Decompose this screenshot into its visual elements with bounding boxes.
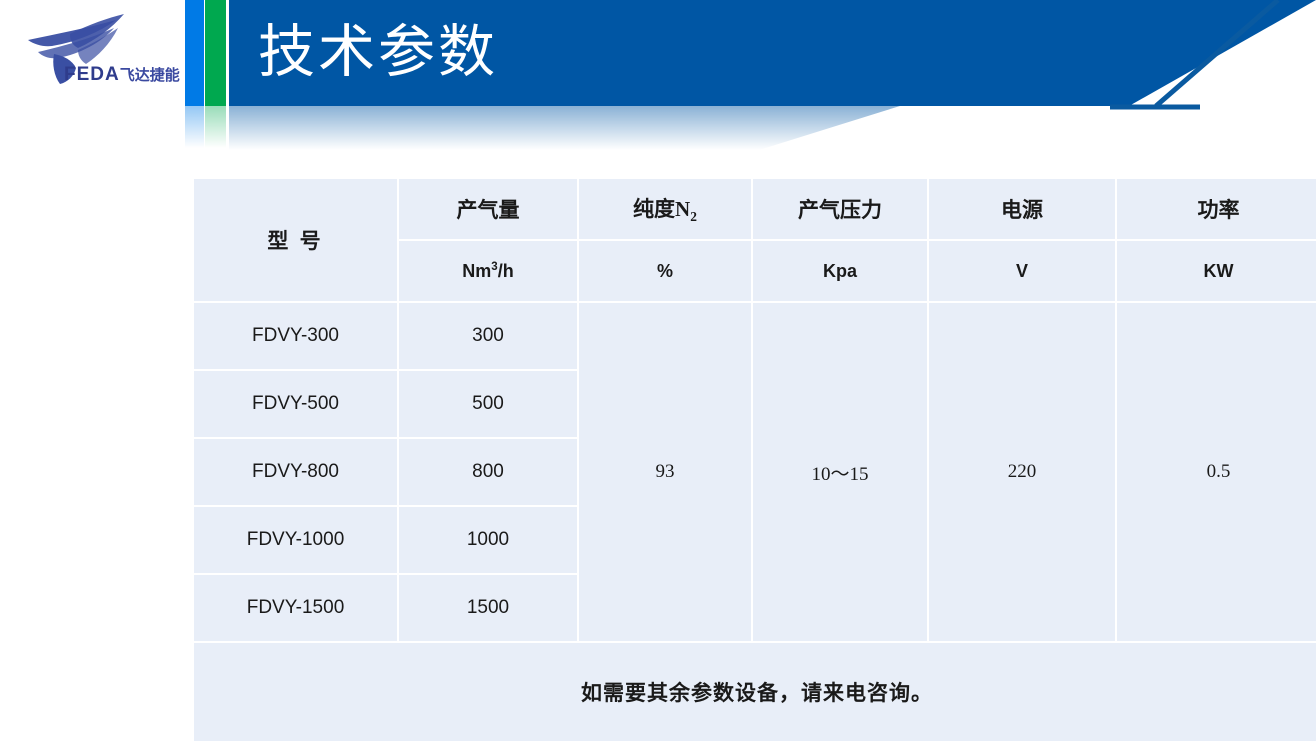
unit-cell-power: KW bbox=[1117, 241, 1316, 301]
header-cell-flow: 产气量 bbox=[399, 179, 577, 239]
unit-cell-pressure: Kpa bbox=[753, 241, 927, 301]
accent-bar-blue bbox=[185, 0, 204, 106]
header-cell-model: 型 号 bbox=[194, 179, 397, 301]
accent-bar-green-reflection bbox=[205, 106, 226, 148]
accent-bar-blue-reflection bbox=[185, 106, 204, 148]
purity-subscript: 2 bbox=[690, 209, 697, 224]
cell-model: FDVY-300 bbox=[194, 303, 397, 369]
technical-parameters-table: 型 号 产气量 纯度N2 产气压力 电源 功率 Nm3/h % Kpa V KW… bbox=[192, 177, 1316, 743]
unit-cell-purity: % bbox=[579, 241, 751, 301]
slide-header: FEDA飞达捷能 技术参数 bbox=[0, 0, 1316, 150]
title-plate-reflection bbox=[229, 106, 1316, 150]
table-row: FDVY-300 300 93 10～15 220 0.5 bbox=[194, 303, 1316, 369]
company-logo: FEDA飞达捷能 bbox=[8, 12, 184, 92]
logo-wordmark: FEDA飞达捷能 bbox=[64, 64, 180, 86]
header-cell-power: 功率 bbox=[1117, 179, 1316, 239]
logo-brand-cn: 飞达捷能 bbox=[120, 67, 180, 84]
header-cell-power-supply: 电源 bbox=[929, 179, 1115, 239]
page-title: 技术参数 bbox=[258, 14, 498, 90]
cell-model: FDVY-1500 bbox=[194, 575, 397, 641]
cell-power-merged: 0.5 bbox=[1117, 303, 1316, 641]
unit-cell-flow: Nm3/h bbox=[399, 241, 577, 301]
cell-pressure-merged: 10～15 bbox=[753, 303, 927, 641]
header-cell-pressure: 产气压力 bbox=[753, 179, 927, 239]
logo-brand-latin: FEDA bbox=[64, 64, 120, 85]
cell-model: FDVY-500 bbox=[194, 371, 397, 437]
cell-flow: 1500 bbox=[399, 575, 577, 641]
table-note-row: 如需要其余参数设备，请来电咨询。 bbox=[194, 643, 1316, 741]
accent-bar-green bbox=[205, 0, 226, 106]
cell-flow: 1000 bbox=[399, 507, 577, 573]
cell-purity-merged: 93 bbox=[579, 303, 751, 641]
unit-cell-power-supply: V bbox=[929, 241, 1115, 301]
table-note: 如需要其余参数设备，请来电咨询。 bbox=[194, 643, 1316, 741]
cell-model: FDVY-1000 bbox=[194, 507, 397, 573]
cell-flow: 500 bbox=[399, 371, 577, 437]
flow-superscript: 3 bbox=[491, 261, 497, 273]
table-header-row-title: 型 号 产气量 纯度N2 产气压力 电源 功率 bbox=[194, 179, 1316, 239]
cell-power-supply-merged: 220 bbox=[929, 303, 1115, 641]
cell-model: FDVY-800 bbox=[194, 439, 397, 505]
header-cell-purity: 纯度N2 bbox=[579, 179, 751, 239]
cell-flow: 800 bbox=[399, 439, 577, 505]
cell-flow: 300 bbox=[399, 303, 577, 369]
